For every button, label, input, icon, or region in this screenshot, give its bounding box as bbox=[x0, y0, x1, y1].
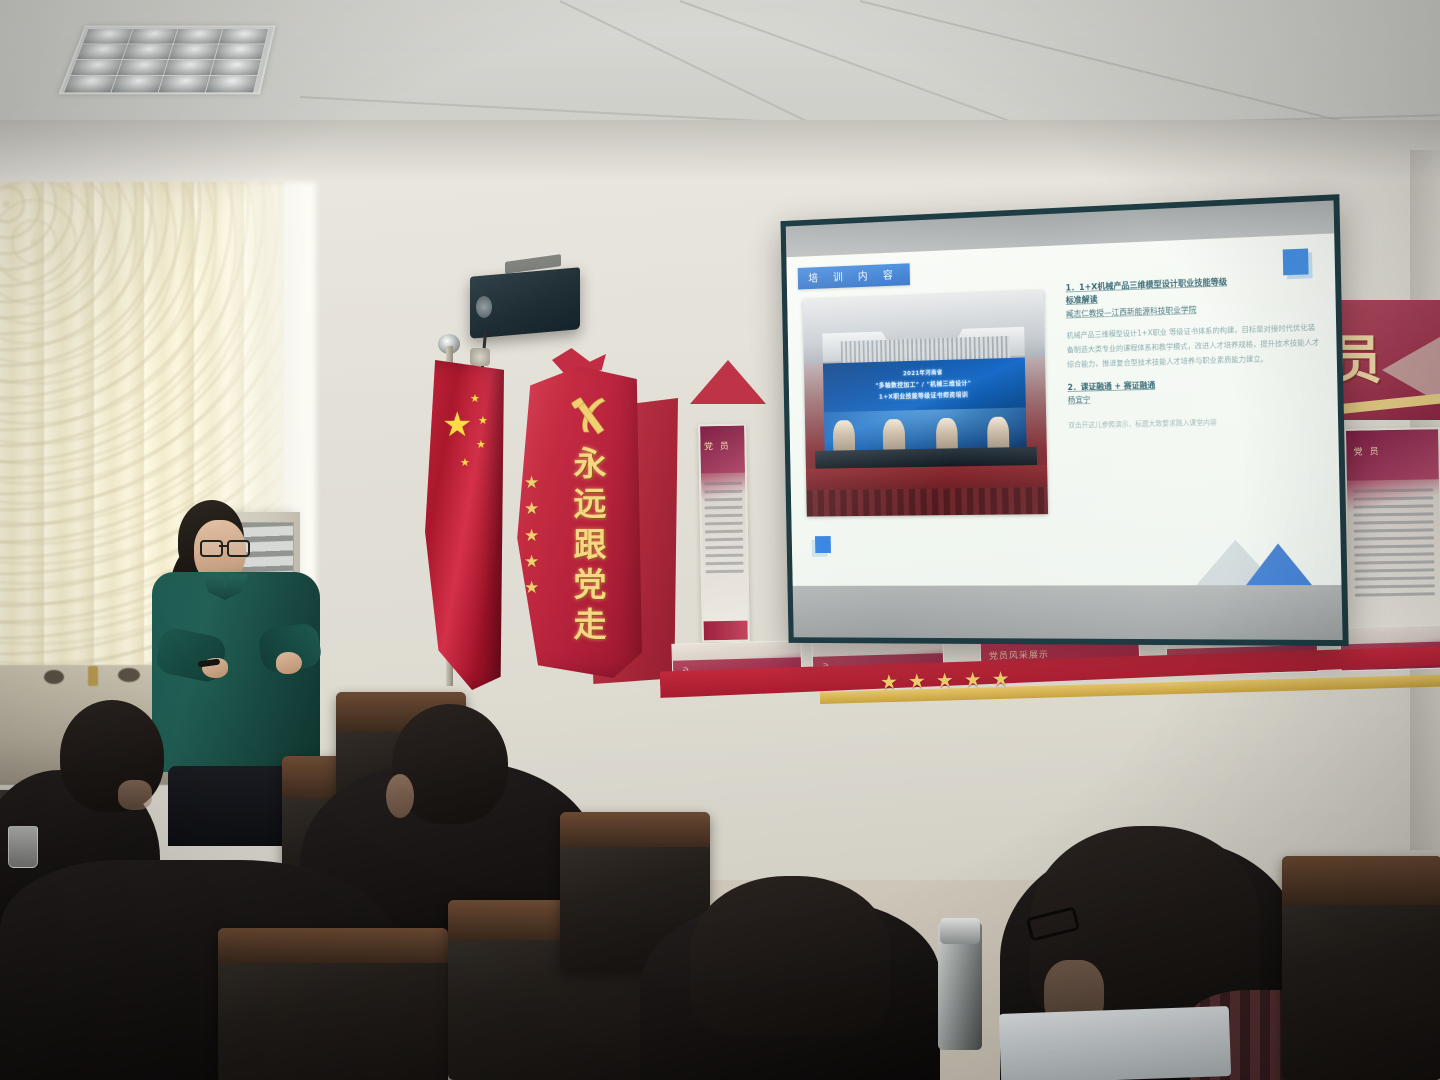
presenter-hand-right bbox=[276, 652, 302, 674]
projection-screen: 培 训 内 容 2021年河南省 "多轴数控加工" / "机械三维设计" 1+X… bbox=[780, 194, 1348, 646]
ledge-object bbox=[118, 668, 140, 682]
photo-scene: ★ ★ ★ ★ ★ 永远跟党走 ★★★★★ 党 员 党 员 员 bbox=[0, 0, 1440, 1080]
slide-decoration-square-top bbox=[1283, 249, 1309, 276]
slide-decoration-triangle-blue bbox=[1245, 543, 1312, 585]
thermos-cap bbox=[940, 918, 980, 944]
wall-band-stars: ★★★★★ bbox=[880, 666, 1020, 695]
slide-title-badge: 培 训 内 容 bbox=[798, 264, 910, 290]
party-wall-banner: 永远跟党走 ★★★★★ bbox=[500, 352, 680, 700]
slide-paragraph: 机械产品三维模型设计1+X职业 等级证书体系的构建，目标是对接时代优化装备制造大… bbox=[1066, 320, 1322, 373]
glasses-icon bbox=[200, 540, 246, 553]
projector-lens-icon bbox=[476, 296, 492, 318]
audience-neck bbox=[386, 774, 414, 818]
slide-footer-note: 双击开这儿参照演示，标题大致要求融入课堂内容 bbox=[1068, 414, 1323, 431]
chair bbox=[1282, 856, 1440, 1080]
ledge-object bbox=[88, 666, 98, 686]
banner-arrow-decoration bbox=[690, 360, 766, 404]
poster-title: 党 员 bbox=[1354, 444, 1381, 457]
hammer-and-sickle-icon bbox=[566, 394, 614, 438]
ceiling-light-fixture bbox=[58, 26, 275, 95]
audience-head bbox=[690, 876, 890, 1036]
screen-bottom-band bbox=[793, 585, 1343, 640]
poster-title: 党 员 bbox=[704, 439, 731, 452]
slide-embedded-photo: 2021年河南省 "多轴数控加工" / "机械三维设计" 1+X职业技能等级证书… bbox=[803, 290, 1049, 516]
presentation-slide: 培 训 内 容 2021年河南省 "多轴数控加工" / "机械三维设计" 1+X… bbox=[786, 233, 1341, 585]
ledge-object bbox=[44, 670, 64, 684]
audience-neck bbox=[118, 780, 152, 810]
presenter-legs bbox=[168, 766, 290, 846]
wall-top-shadow bbox=[0, 120, 1440, 180]
glass-cup bbox=[8, 826, 38, 868]
laptop-device bbox=[999, 1006, 1231, 1080]
wall-socket bbox=[470, 348, 490, 366]
banner-stars: ★★★★★ bbox=[524, 470, 539, 602]
banner-slogan-text: 永远跟党走 bbox=[562, 444, 618, 645]
screen-surface: 培 训 内 容 2021年河南省 "多轴数控加工" / "机械三维设计" 1+X… bbox=[786, 200, 1343, 640]
slide-decoration-square-bottom bbox=[815, 536, 831, 553]
wall-poster: 党 员 bbox=[698, 424, 750, 643]
slide-body-text: 1．1+X机械产品三维模型设计职业技能等级 标准解读 臧志仁教授—江西新能源科技… bbox=[1065, 273, 1323, 432]
chair bbox=[218, 928, 448, 1080]
